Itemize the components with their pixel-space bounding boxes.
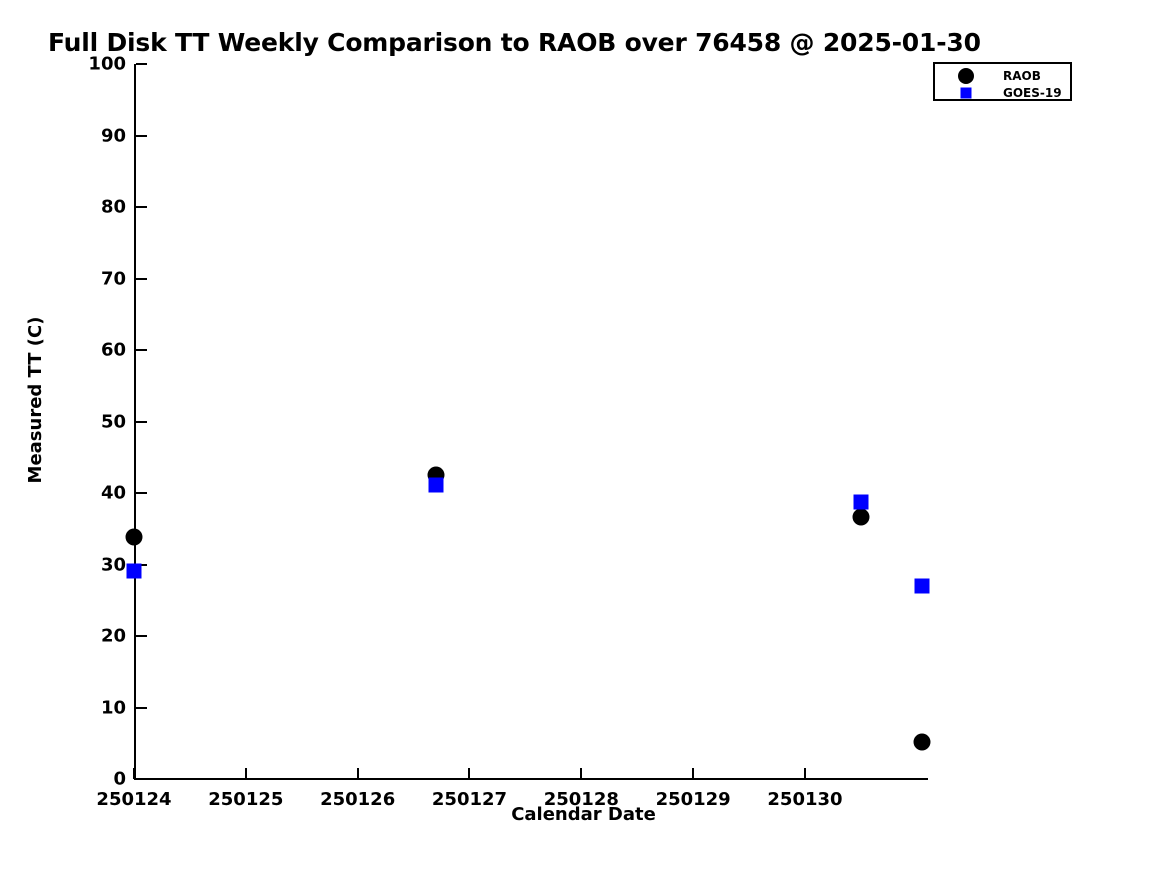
x-axis-tick [357,768,359,779]
y-axis-tick [136,492,147,494]
y-axis-tick-label: 40 [101,483,126,504]
y-axis-tick [136,635,147,637]
y-axis-tick-label: 100 [88,54,126,75]
square-marker-icon [961,87,972,98]
data-point-raob [914,733,931,750]
x-axis-tick [468,768,470,779]
page-title: Full Disk TT Weekly Comparison to RAOB o… [48,28,981,57]
y-axis-title-wrap: Measured TT (C) [25,300,49,500]
y-axis-tick-label: 10 [101,697,126,718]
data-point-goes-19 [853,495,868,510]
circle-marker-icon [958,68,974,84]
y-axis-tick [136,135,147,137]
x-axis-tick [580,768,582,779]
legend-item-raob: RAOB [935,67,1074,84]
data-point-goes-19 [428,478,443,493]
data-point-goes-19 [127,563,142,578]
y-axis-tick [136,206,147,208]
y-axis-tick-label: 0 [113,769,126,790]
x-axis-title: Calendar Date [0,804,1167,825]
y-axis-tick-label: 90 [101,125,126,146]
data-point-raob [126,529,143,546]
legend-item-goes-19: GOES-19 [935,84,1074,101]
plot-area [134,64,928,779]
y-axis-tick-label: 70 [101,268,126,289]
y-axis-tick [136,421,147,423]
y-axis-tick-label: 50 [101,411,126,432]
y-axis-tick-label: 20 [101,626,126,647]
data-point-raob [852,509,869,526]
x-axis-tick [133,768,135,779]
y-axis-tick-labels: 0102030405060708090100 [52,64,126,780]
x-axis-tick [804,768,806,779]
chart-legend: RAOBGOES-19 [933,62,1072,101]
y-axis-tick-label: 60 [101,340,126,361]
y-axis-tick-label: 80 [101,197,126,218]
y-axis-title: Measured TT (C) [25,300,46,500]
legend-item-label: GOES-19 [1003,86,1062,100]
x-axis-tick [692,768,694,779]
chart-figure: Full Disk TT Weekly Comparison to RAOB o… [0,0,1167,875]
legend-item-label: RAOB [1003,69,1041,83]
y-axis-tick [136,707,147,709]
y-axis-tick [136,278,147,280]
y-axis-tick [136,349,147,351]
y-axis-tick-label: 30 [101,554,126,575]
y-axis-tick [136,63,147,65]
x-axis-tick [245,768,247,779]
data-point-goes-19 [915,578,930,593]
